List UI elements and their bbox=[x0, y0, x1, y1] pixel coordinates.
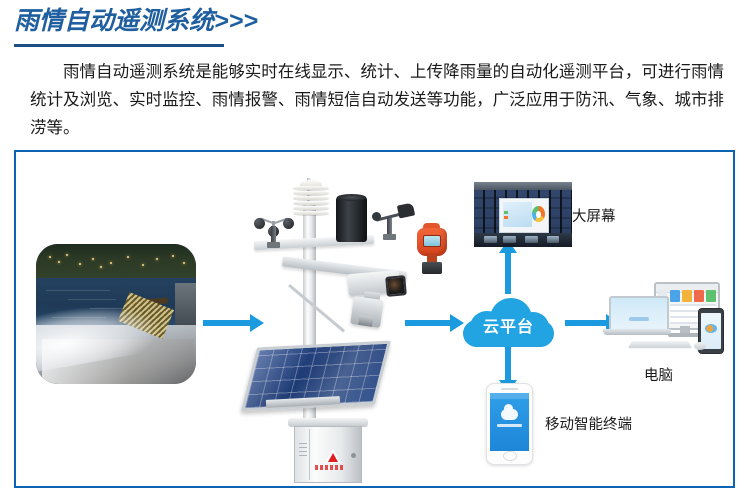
page-header: 雨情自动遥测系统>>> bbox=[14, 6, 734, 36]
wind-vane-sensor bbox=[372, 206, 416, 240]
photo-city-lights bbox=[36, 247, 196, 278]
label-mobile-terminal: 移动智能终端 bbox=[545, 413, 632, 434]
arrow-cloud-to-computer bbox=[565, 320, 607, 326]
radiation-shield-sensor bbox=[293, 186, 329, 220]
intro-paragraph: 雨情自动遥测系统是能够实时在线显示、统计、上传降雨量的自动化遥测平台，可进行雨情… bbox=[30, 58, 724, 142]
weather-station-assembly bbox=[230, 176, 450, 476]
page-title: 雨情自动遥测系统>>> bbox=[14, 6, 734, 36]
site-photo-dam bbox=[36, 244, 196, 384]
phone-home-button bbox=[503, 451, 517, 461]
title-underline-rule bbox=[14, 44, 224, 47]
control-cabinet bbox=[292, 418, 364, 484]
keyboard-peripheral bbox=[628, 341, 692, 348]
label-big-screen: 大屏幕 bbox=[572, 205, 616, 226]
mobile-phone-device bbox=[486, 383, 533, 465]
cabinet-lock-icon bbox=[351, 453, 356, 458]
orange-water-level-sensor bbox=[415, 228, 449, 274]
monitor-foot bbox=[668, 333, 702, 337]
station-support-brace bbox=[288, 284, 345, 333]
phone-cloud-app-icon bbox=[501, 409, 518, 420]
big-screen-control-room-photo bbox=[474, 182, 572, 247]
product-description-page: 雨情自动遥测系统>>> 雨情自动遥测系统是能够实时在线显示、统计、上传降雨量的自… bbox=[0, 0, 750, 496]
camera-ptz-bracket bbox=[350, 296, 384, 328]
label-computer: 电脑 bbox=[644, 364, 673, 385]
rain-gauge-sensor bbox=[336, 196, 367, 242]
computer-devices-group bbox=[606, 282, 726, 360]
warning-triangle-icon bbox=[325, 449, 341, 463]
anemometer-cup-sensor bbox=[254, 212, 294, 242]
arrow-cloud-to-bigscreen bbox=[505, 252, 511, 294]
photo-concrete-pier bbox=[175, 283, 196, 331]
laptop-device bbox=[606, 296, 668, 336]
cloud-platform-node: 云平台 bbox=[460, 295, 557, 351]
cloud-platform-label: 云平台 bbox=[460, 313, 557, 337]
mouse-peripheral bbox=[694, 342, 706, 350]
